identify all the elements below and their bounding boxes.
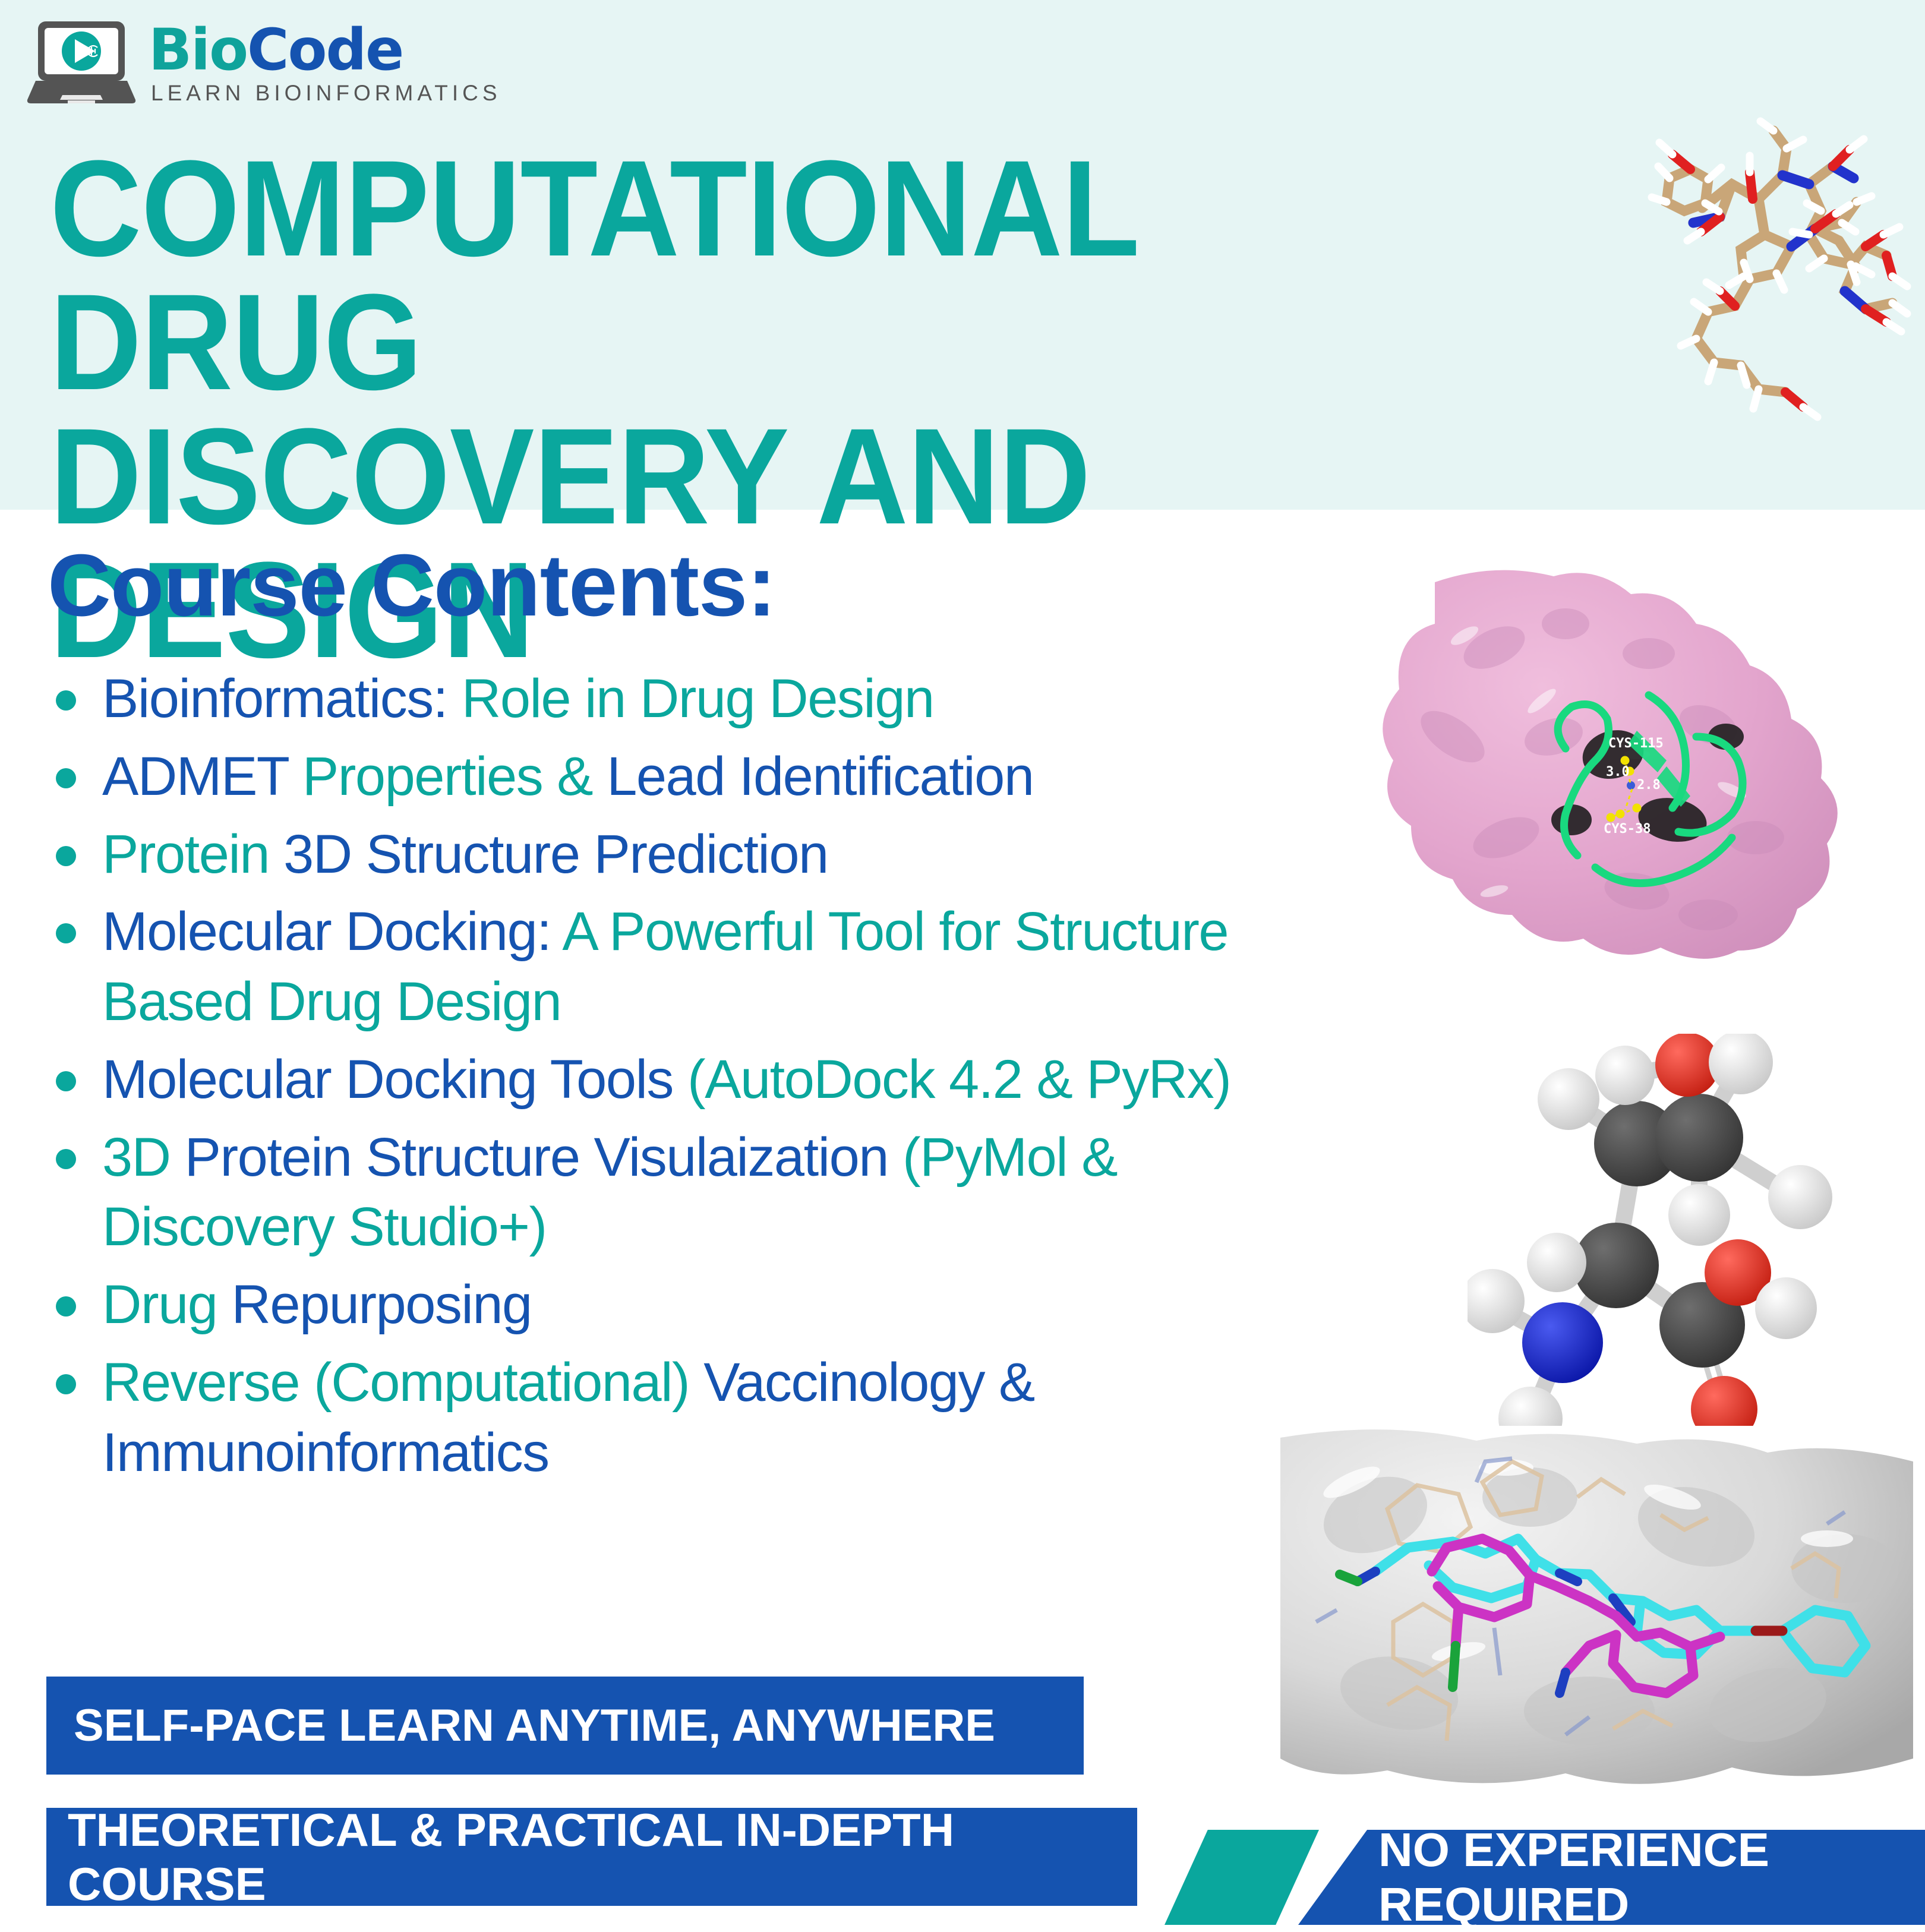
- list-item: Molecular Docking Tools (AutoDock 4.2 & …: [43, 1045, 1302, 1115]
- label-distance-2: 2.8: [1637, 778, 1661, 793]
- brand-tagline: LEARN BIOINFORMATICS: [151, 81, 501, 106]
- segment: Molecular Docking Tools: [102, 1049, 687, 1110]
- segment: Protein: [102, 824, 283, 885]
- list-item: 3D Protein Structure Visulaization (PyMo…: [43, 1123, 1302, 1263]
- segment: Role in Drug Design: [462, 668, 934, 729]
- segment: Bioinformatics:: [102, 668, 462, 729]
- segment: Protein Structure Visulaization: [185, 1127, 902, 1188]
- laptop-play-dna-icon: [25, 17, 138, 106]
- brand-name: BioCode: [149, 21, 501, 78]
- badge-no-experience: NO EXPERIENCE REQUIRED: [1298, 1830, 1925, 1925]
- list-item: ADMET Properties & Lead Identification: [43, 742, 1302, 812]
- segment: ADMET: [102, 746, 302, 807]
- page-title-line1: COMPUTATIONAL DRUG: [50, 141, 1509, 409]
- segment: Drug: [102, 1274, 231, 1335]
- header-band: BioCode LEARN BIOINFORMATICS COMPUTATION…: [0, 0, 1925, 510]
- brand-name-code: Code: [247, 17, 403, 83]
- segment: Molecular Docking:: [102, 901, 562, 962]
- docking-pocket-figure: [1280, 1426, 1913, 1797]
- segment: 3D: [102, 1127, 185, 1188]
- segment: Repurposing: [231, 1274, 531, 1335]
- segment: Lead Identification: [607, 746, 1033, 807]
- list-item: Protein 3D Structure Prediction: [43, 820, 1302, 890]
- list-item: Drug Repurposing: [43, 1270, 1302, 1340]
- label-cys115: CYS-115: [1608, 736, 1664, 751]
- accent-parallelogram: [1165, 1830, 1319, 1925]
- amino-acid-figure: [1468, 1034, 1919, 1426]
- list-item: Molecular Docking: A Powerful Tool for S…: [43, 897, 1302, 1037]
- list-item: Bioinformatics: Role in Drug Design: [43, 664, 1302, 734]
- badge-theoretical-practical: THEORETICAL & PRACTICAL IN-DEPTH COURSE: [46, 1808, 1137, 1906]
- label-distance-1: 3.0: [1606, 765, 1630, 779]
- brand-name-bio: Bio: [149, 17, 247, 83]
- list-item: Reverse (Computational) Vaccinology & Im…: [43, 1348, 1302, 1488]
- brand-text: BioCode LEARN BIOINFORMATICS: [149, 21, 501, 106]
- segment: Properties &: [302, 746, 607, 807]
- course-contents-list: Bioinformatics: Role in Drug Design ADME…: [43, 664, 1302, 1495]
- badge-no-experience-wrap: NO EXPERIENCE REQUIRED: [1165, 1830, 1925, 1925]
- segment: Reverse (Computational): [102, 1352, 703, 1413]
- badge-self-pace: SELF-PACE LEARN ANYTIME, ANYWHERE: [46, 1677, 1084, 1775]
- page-section-title: Course Contents:: [48, 542, 776, 630]
- segment: (AutoDock 4.2 & PyRx): [687, 1049, 1230, 1110]
- protein-surface-figure: CYS-115 3.0 2.8 CYS-38: [1316, 558, 1910, 968]
- brand-logo: BioCode LEARN BIOINFORMATICS: [25, 17, 501, 106]
- label-cys38: CYS-38: [1604, 822, 1651, 836]
- peptide-molecule-ball-and-stick: [1631, 113, 1925, 469]
- segment: 3D Structure Prediction: [283, 824, 828, 885]
